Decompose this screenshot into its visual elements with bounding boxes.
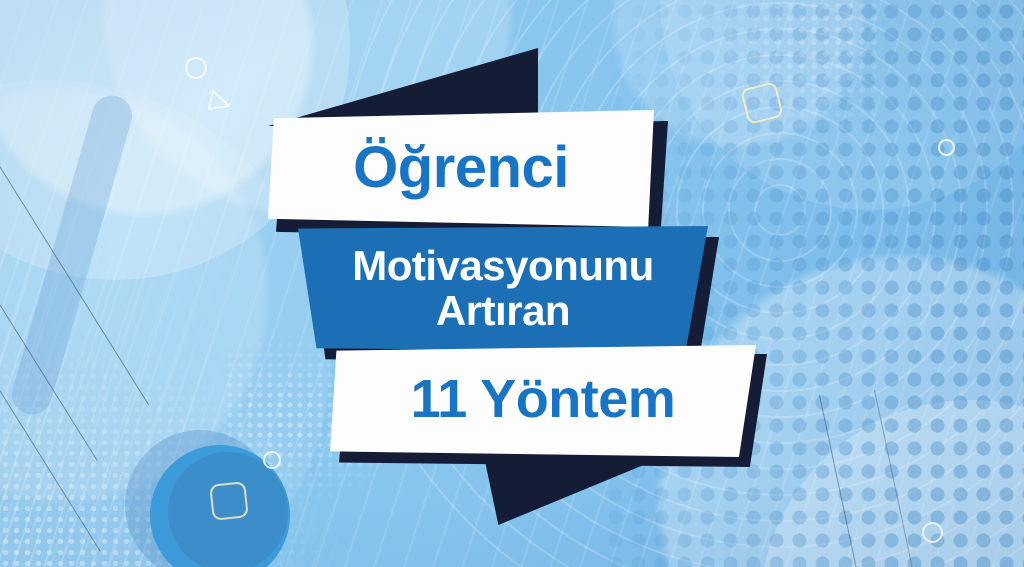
banner-3-text: 11 Yöntem [411,372,676,427]
navy-wedge-bottom [482,447,687,525]
poster-canvas: Öğrenci Motivasyonunu Artıran 11 Yöntem [0,0,1024,567]
banner-motivasyonunu-artiran: Motivasyonunu Artıran [298,226,708,352]
banner-oegrenci: Öğrenci [268,110,654,227]
banner-11-yontem: 11 Yöntem [330,345,756,457]
banner-2-line-1: Motivasyonunu [352,245,654,288]
ribbon-group: Öğrenci Motivasyonunu Artıran 11 Yöntem [0,0,1024,567]
banner-1-text: Öğrenci [353,138,569,197]
banner-2-line-2: Artıran [436,290,570,333]
